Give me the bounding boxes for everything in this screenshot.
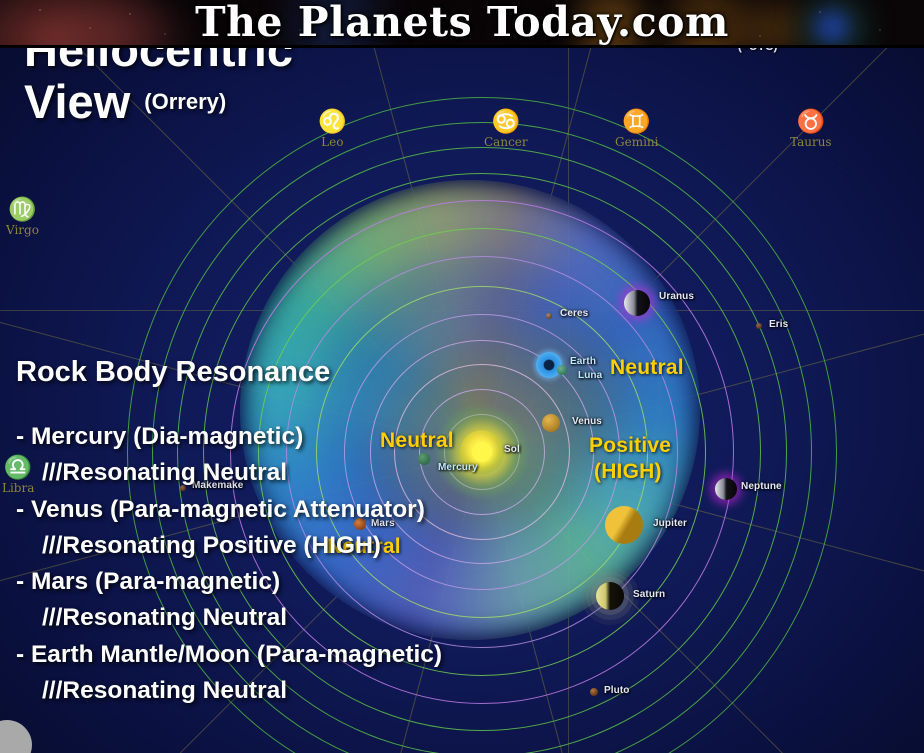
label-neptune: Neptune <box>741 481 782 492</box>
resonance-title: Rock Body Resonance <box>16 356 536 389</box>
body-venus[interactable] <box>542 414 560 432</box>
site-title: The Planets Today.com <box>0 0 924 46</box>
label-luna: Luna <box>578 370 602 381</box>
label-uranus: Uranus <box>659 291 694 302</box>
resonance-bullet-1: ///Resonating Neutral <box>16 455 536 491</box>
body-pluto[interactable] <box>590 688 598 696</box>
banner-divider <box>0 45 924 48</box>
label-ceres: Ceres <box>560 308 588 319</box>
label-jupiter: Jupiter <box>653 518 687 529</box>
annotation-0-neutral: Neutral <box>610 356 684 380</box>
label-earth: Earth <box>570 356 596 367</box>
body-jupiter[interactable] <box>605 506 643 544</box>
label-pluto: Pluto <box>604 685 630 696</box>
annotation-2-positive: Positive <box>589 434 671 458</box>
label-venus: Venus <box>572 416 602 427</box>
resonance-bullet-0: - Mercury (Dia-magnetic) <box>16 419 536 455</box>
body-luna[interactable] <box>557 365 567 375</box>
resonance-bullet-list: - Mercury (Dia-magnetic)///Resonating Ne… <box>16 419 536 709</box>
body-eris[interactable] <box>756 323 762 329</box>
resonance-bullet-3: ///Resonating Positive (HIGH) <box>16 528 536 564</box>
resonance-bullet-4: - Mars (Para-magnetic) <box>16 564 536 600</box>
heading-subtitle: (Orrery) <box>144 89 226 125</box>
resonance-bullet-2: - Venus (Para-magnetic Attenuator) <box>16 492 536 528</box>
heading-line-2: View <box>24 79 130 125</box>
resonance-bullet-5: ///Resonating Neutral <box>16 600 536 636</box>
annotation-3-high: (HIGH) <box>594 460 662 484</box>
rock-body-resonance-block: Rock Body Resonance - Mercury (Dia-magne… <box>16 356 536 709</box>
resonance-bullet-7: ///Resonating Neutral <box>16 673 536 709</box>
body-saturn[interactable] <box>596 582 624 610</box>
label-saturn: Saturn <box>633 589 665 600</box>
body-uranus[interactable] <box>624 290 650 316</box>
body-neptune[interactable] <box>715 478 737 500</box>
site-banner: The Planets Today.com <box>0 0 924 48</box>
label-eris: Eris <box>769 319 788 330</box>
orrery-app: The Planets Today.com SolMercuryVenusEar… <box>0 0 924 753</box>
body-ceres[interactable] <box>546 313 552 319</box>
resonance-bullet-6: - Earth Mantle/Moon (Para-magnetic) <box>16 637 536 673</box>
